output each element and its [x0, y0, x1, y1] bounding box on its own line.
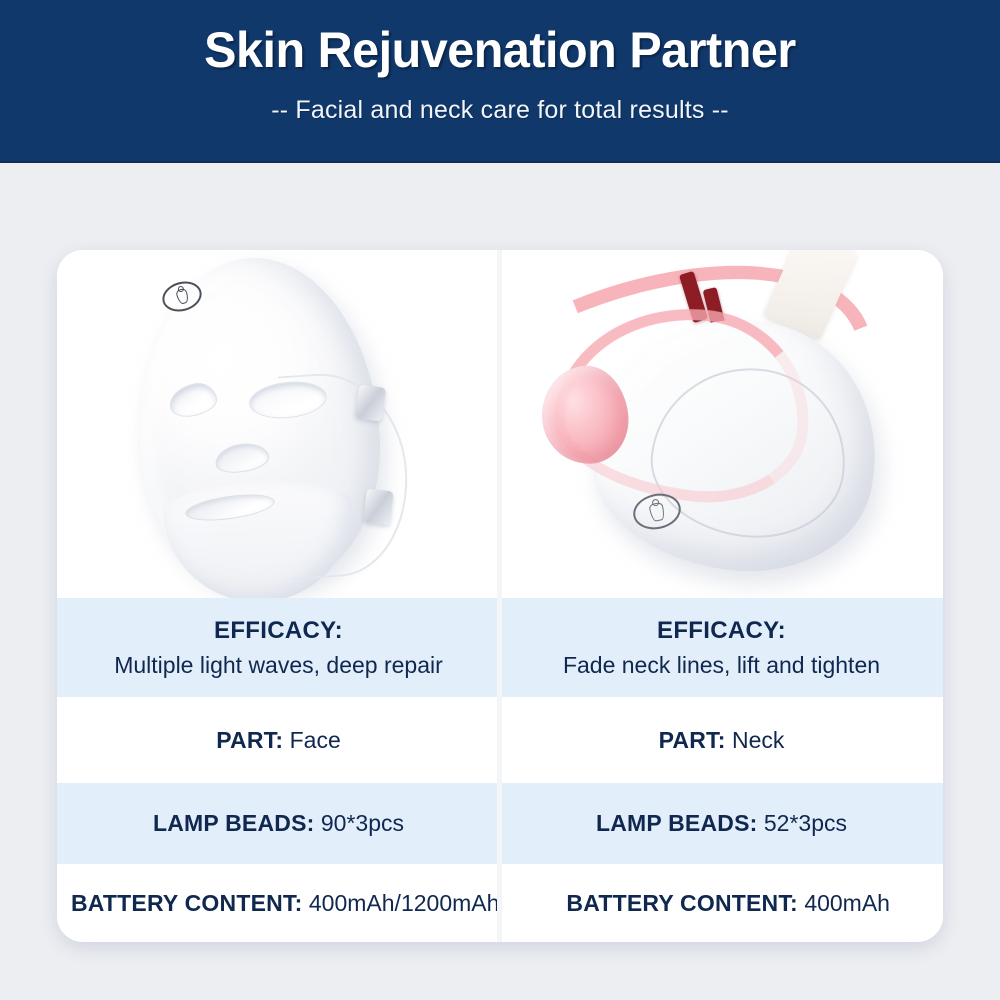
spec-cell-part-face: PART: Face [57, 697, 500, 783]
efficacy-label: EFFICACY: [657, 617, 786, 645]
spec-cell-efficacy-neck: EFFICACY: Fade neck lines, lift and tigh… [500, 598, 943, 697]
part-label: PART: [659, 727, 726, 753]
part-value: Face [290, 727, 341, 753]
strap-buckle-icon [363, 489, 393, 526]
lamp-beads-line: LAMP BEADS: 90*3pcs [153, 810, 404, 837]
header-banner: Skin Rejuvenation Partner -- Facial and … [0, 0, 1000, 163]
battery-value: 400mAh [804, 890, 890, 916]
part-label: PART: [216, 727, 283, 753]
battery-line: BATTERY CONTENT: 400mAh [566, 890, 890, 917]
battery-label: BATTERY CONTENT: [566, 890, 798, 916]
lamp-beads-label: LAMP BEADS: [596, 810, 758, 836]
led-face-mask-photo [57, 250, 500, 598]
touch-glyph [648, 501, 665, 522]
strap-buckle-icon [355, 384, 386, 421]
led-neck-device-photo [500, 250, 943, 598]
spec-cell-part-neck: PART: Neck [500, 697, 943, 783]
spec-cell-battery-neck: BATTERY CONTENT: 400mAh [513, 864, 943, 942]
lamp-beads-label: LAMP BEADS: [153, 810, 315, 836]
battery-label: BATTERY CONTENT: [71, 890, 303, 916]
spec-cell-lamp-beads-neck: LAMP BEADS: 52*3pcs [500, 783, 943, 864]
efficacy-value: Multiple light waves, deep repair [114, 652, 443, 679]
efficacy-label: EFFICACY: [214, 617, 343, 645]
lamp-beads-value: 90*3pcs [321, 810, 404, 836]
part-line: PART: Neck [659, 727, 785, 754]
neck-device-illustration [500, 250, 943, 598]
efficacy-value: Fade neck lines, lift and tighten [563, 652, 880, 679]
page-subtitle: -- Facial and neck care for total result… [271, 96, 729, 125]
page-title: Skin Rejuvenation Partner [204, 25, 796, 75]
spec-cell-battery-face: BATTERY CONTENT: 400mAh/1200mAh [57, 864, 513, 942]
part-value: Neck [732, 727, 784, 753]
battery-line: BATTERY CONTENT: 400mAh/1200mAh [71, 890, 499, 917]
part-line: PART: Face [216, 727, 341, 754]
spec-cell-lamp-beads-face: LAMP BEADS: 90*3pcs [57, 783, 500, 864]
product-comparison-card: EFFICACY: Multiple light waves, deep rep… [57, 250, 943, 942]
lamp-beads-line: LAMP BEADS: 52*3pcs [596, 810, 847, 837]
touch-glyph [175, 288, 190, 305]
lamp-beads-value: 52*3pcs [764, 810, 847, 836]
spec-cell-efficacy-face: EFFICACY: Multiple light waves, deep rep… [57, 598, 500, 697]
face-mask-illustration [57, 250, 500, 598]
battery-value: 400mAh/1200mAh [309, 890, 500, 916]
column-divider [497, 250, 502, 942]
